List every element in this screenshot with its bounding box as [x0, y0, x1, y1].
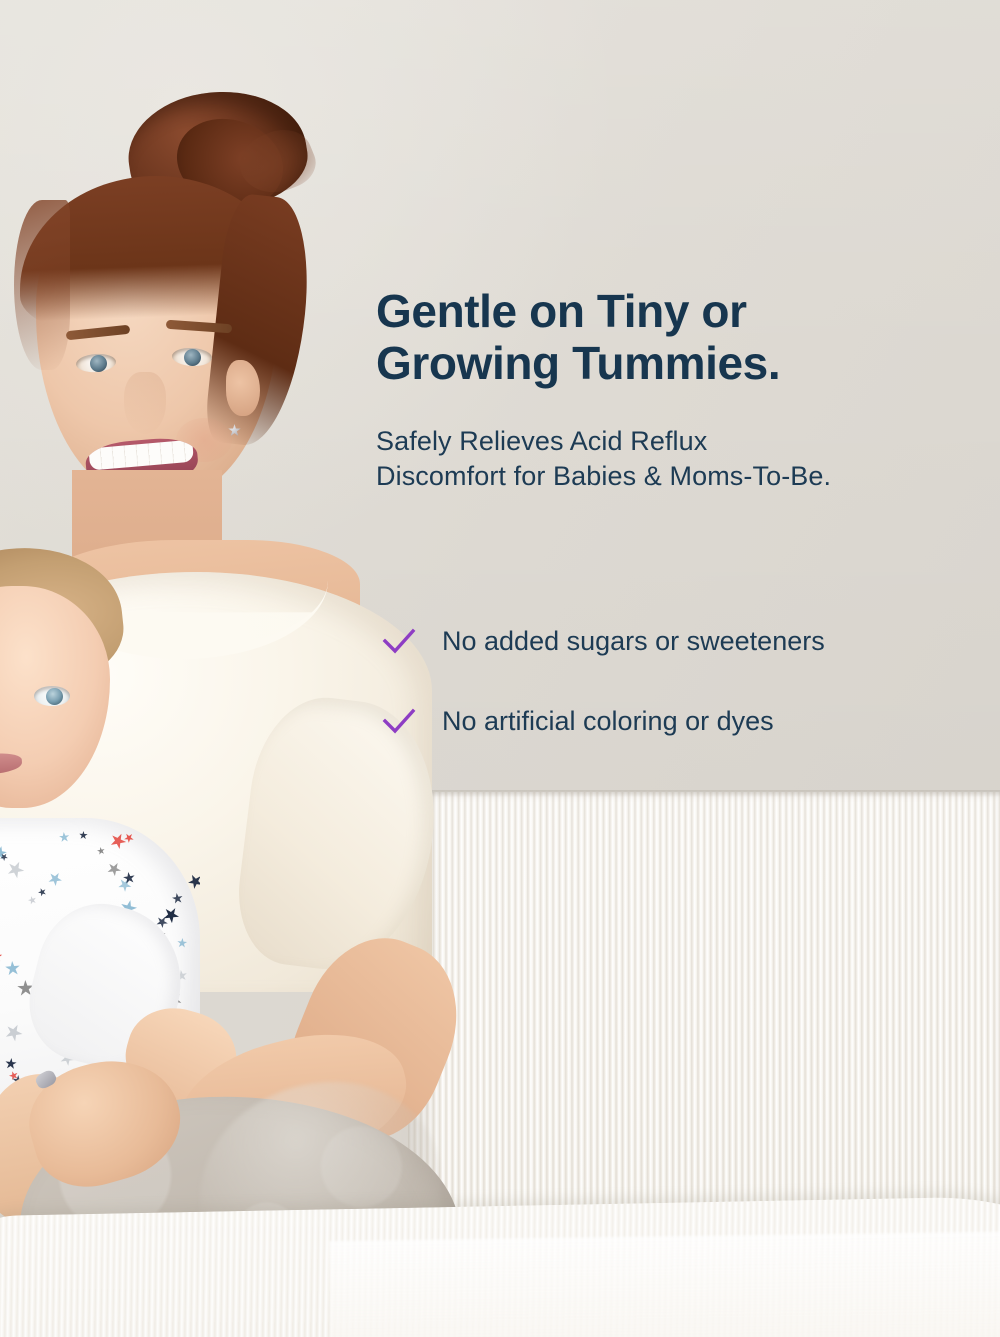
star-motif: [37, 887, 47, 897]
star-motif: [57, 830, 71, 844]
star-motif: [116, 876, 135, 895]
hero-banner: Gentle on Tiny or Growing Tummies. Safel…: [0, 0, 1000, 1337]
mother-hair-left: [14, 200, 70, 370]
star-motif: [170, 891, 185, 906]
star-motif: [46, 870, 64, 888]
subhead-line-2: Discomfort for Babies & Moms-To-Be.: [376, 461, 831, 491]
headline-line-2: Growing Tummies.: [376, 337, 780, 389]
star-motif: [108, 832, 127, 851]
star-motif: [96, 845, 107, 856]
subhead-line-1: Safely Relieves Acid Reflux: [376, 426, 707, 456]
page-subtitle: Safely Relieves Acid Reflux Discomfort f…: [376, 389, 986, 494]
mother-nose: [124, 372, 166, 434]
check-icon: [382, 627, 416, 657]
list-item: No added sugars or sweeteners: [382, 620, 982, 664]
headline-line-1: Gentle on Tiny or: [376, 285, 747, 337]
star-motif: [77, 829, 89, 841]
star-motif: [105, 859, 125, 879]
check-icon: [382, 707, 416, 737]
mother-iris-right: [184, 349, 201, 366]
hero-copy: Gentle on Tiny or Growing Tummies. Safel…: [376, 286, 986, 494]
benefit-list: No added sugars or sweeteners No artific…: [382, 620, 982, 780]
couch-top-edge: [408, 790, 1000, 797]
benefit-label: No added sugars or sweeteners: [442, 627, 825, 657]
mother-iris-left: [90, 355, 107, 372]
list-item: No artificial coloring or dyes: [382, 700, 982, 744]
star-motif: [2, 1055, 19, 1072]
couch-seat-highlight: [329, 1231, 1000, 1337]
star-motif: [3, 959, 24, 980]
star-motif: [27, 895, 39, 907]
page-title: Gentle on Tiny or Growing Tummies.: [376, 286, 986, 389]
star-motif: [0, 949, 5, 965]
baby-iris-right: [46, 688, 63, 705]
star-motif: [185, 871, 200, 892]
star-motif: [175, 936, 188, 949]
star-motif: [3, 1023, 23, 1043]
star-motif: [124, 833, 134, 843]
benefit-label: No artificial coloring or dyes: [442, 707, 774, 737]
star-motif: [6, 860, 25, 879]
